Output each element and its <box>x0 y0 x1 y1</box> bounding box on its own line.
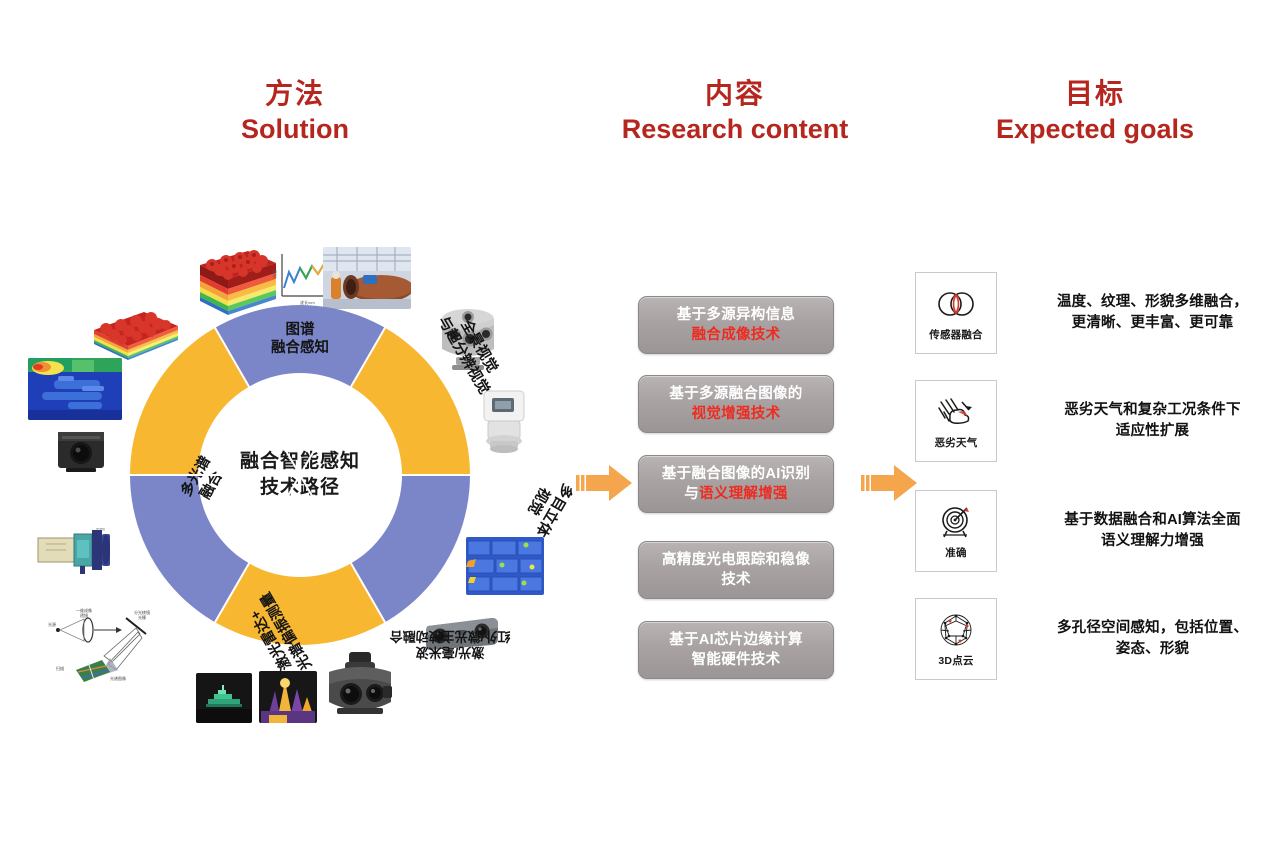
wheel-segment-divider <box>300 474 470 476</box>
pipeline-inspection-photo-thumbnail <box>323 247 411 309</box>
laser-scanner-unit-thumbnail <box>476 389 532 455</box>
multispectral-camera-thumbnail <box>54 424 110 474</box>
goal-description: 多孔径空间感知，包括位置、姿态、形貌 <box>1030 618 1268 660</box>
gimbal-eo-turret-thumbnail <box>321 650 399 722</box>
goal-description-line1: 温度、纹理、形貌多维融合， <box>1030 292 1268 313</box>
goal-description: 基于数据融合和AI算法全面语义理解力增强 <box>1030 510 1268 552</box>
stereo-depth-map-thumbnail <box>466 537 544 595</box>
goal-description-line2: 语义理解力增强 <box>1030 531 1268 552</box>
heading-content-en: Research content <box>585 114 885 145</box>
heading-goals-cn: 目标 <box>945 78 1245 110</box>
research-item-high-precision-optoelectronic-tracking[interactable]: 高精度光电跟踪和稳像技术 <box>638 541 834 599</box>
goal-row-accuracy: 准确基于数据融合和AI算法全面语义理解力增强 <box>915 490 1255 572</box>
research-item-ai-chip-edge-computing-hardware[interactable]: 基于AI芯片边缘计算智能硬件技术 <box>638 621 834 679</box>
research-item-line1: 基于融合图像的AI识别 <box>662 464 810 484</box>
heading-goals-en: Expected goals <box>945 114 1245 145</box>
lidar-spectrometer-module-thumbnail: 光谱仪 <box>36 528 122 576</box>
research-item-fused-image-ai-recognition-semantics[interactable]: 基于融合图像的AI识别与语义理解增强 <box>638 455 834 513</box>
lowlight-ship-image-thumbnail <box>196 673 252 723</box>
goal-description-line2: 姿态、形貌 <box>1030 639 1268 660</box>
goal-description-line2: 更清晰、更丰富、更可靠 <box>1030 313 1268 334</box>
technology-roadmap-wheel: 图谱 融合感知全景视觉 与超分辨视觉多目立体 视觉激光/毫米波 红外/微光主被动… <box>130 305 470 645</box>
svg-text:光谱图像: 光谱图像 <box>110 675 126 681</box>
point-cloud-icon <box>934 610 978 650</box>
goal-icon-box-accuracy[interactable]: 准确 <box>915 490 997 572</box>
arrow-solution-to-content <box>576 460 634 511</box>
goal-description: 恶劣天气和复杂工况条件下适应性扩展 <box>1030 400 1268 442</box>
column-heading-content: 内容 Research content <box>585 78 885 145</box>
column-heading-solution: 方法 Solution <box>170 78 420 145</box>
goal-row-sensor-fusion: 传感器融合温度、纹理、形貌多维融合，更清晰、更丰富、更可靠 <box>915 272 1255 354</box>
svg-text:扫描: 扫描 <box>56 665 64 671</box>
research-item-line1: 基于多源异构信息 <box>677 305 795 325</box>
heading-solution-en: Solution <box>170 114 420 145</box>
research-item-line2: 与语义理解增强 <box>662 484 810 504</box>
research-item-multi-source-heterogeneous-fusion-imaging[interactable]: 基于多源异构信息融合成像技术 <box>638 296 834 354</box>
research-item-multi-source-fused-image-vision-enhancement[interactable]: 基于多源融合图像的视觉增强技术 <box>638 375 834 433</box>
research-item-line1: 高精度光电跟踪和稳像 <box>662 550 810 570</box>
goal-icon-box-point-cloud-3d[interactable]: 3D点云 <box>915 598 997 680</box>
research-item-line1: 基于AI芯片边缘计算 <box>669 630 803 650</box>
research-item-line1: 基于多源融合图像的 <box>669 384 802 404</box>
svg-text:光强: 光强 <box>272 270 277 278</box>
target-dart-icon <box>934 502 978 542</box>
goal-description-line1: 基于数据融合和AI算法全面 <box>1030 510 1268 531</box>
goal-icon-caption: 恶劣天气 <box>935 435 978 450</box>
research-item-line2: 技术 <box>662 570 810 590</box>
goal-icon-box-bad-weather[interactable]: 恶劣天气 <box>915 380 997 462</box>
goal-icon-caption: 3D点云 <box>938 653 973 668</box>
goal-icon-box-sensor-fusion[interactable]: 传感器融合 <box>915 272 997 354</box>
rain-cloud-icon <box>934 392 978 432</box>
goal-row-point-cloud-3d: 3D点云多孔径空间感知，包括位置、姿态、形貌 <box>915 598 1255 680</box>
goal-description: 温度、纹理、形貌多维融合，更清晰、更丰富、更可靠 <box>1030 292 1268 334</box>
wheel-segment-divider <box>130 474 300 476</box>
goal-description-line2: 适应性扩展 <box>1030 421 1268 442</box>
goal-description-line1: 恶劣天气和复杂工况条件下 <box>1030 400 1268 421</box>
svg-text:光谱仪: 光谱仪 <box>96 528 105 531</box>
goal-description-line1: 多孔径空间感知，包括位置、 <box>1030 618 1268 639</box>
thermal-machinery-image-thumbnail <box>28 358 122 420</box>
research-item-line2: 融合成像技术 <box>677 325 795 345</box>
wheel-center-line2: 技术路径 <box>260 475 340 501</box>
goal-icon-caption: 准确 <box>945 545 966 560</box>
infrared-scene-image-thumbnail <box>259 671 317 723</box>
research-item-line2: 视觉增强技术 <box>669 404 802 424</box>
heading-solution-cn: 方法 <box>170 78 420 110</box>
goal-row-bad-weather: 恶劣天气恶劣天气和复杂工况条件下适应性扩展 <box>915 380 1255 462</box>
venn-circles-icon <box>934 284 978 324</box>
column-heading-goals: 目标 Expected goals <box>945 78 1245 145</box>
research-item-line2: 智能硬件技术 <box>669 650 803 670</box>
diagram-canvas: 方法 Solution 内容 Research content 目标 Expec… <box>0 0 1268 866</box>
goal-icon-caption: 传感器融合 <box>929 327 983 342</box>
heading-content-cn: 内容 <box>585 78 885 110</box>
arrow-content-to-goals <box>861 460 919 511</box>
svg-text:光源: 光源 <box>48 621 56 627</box>
svg-text:透镜: 透镜 <box>80 612 88 618</box>
